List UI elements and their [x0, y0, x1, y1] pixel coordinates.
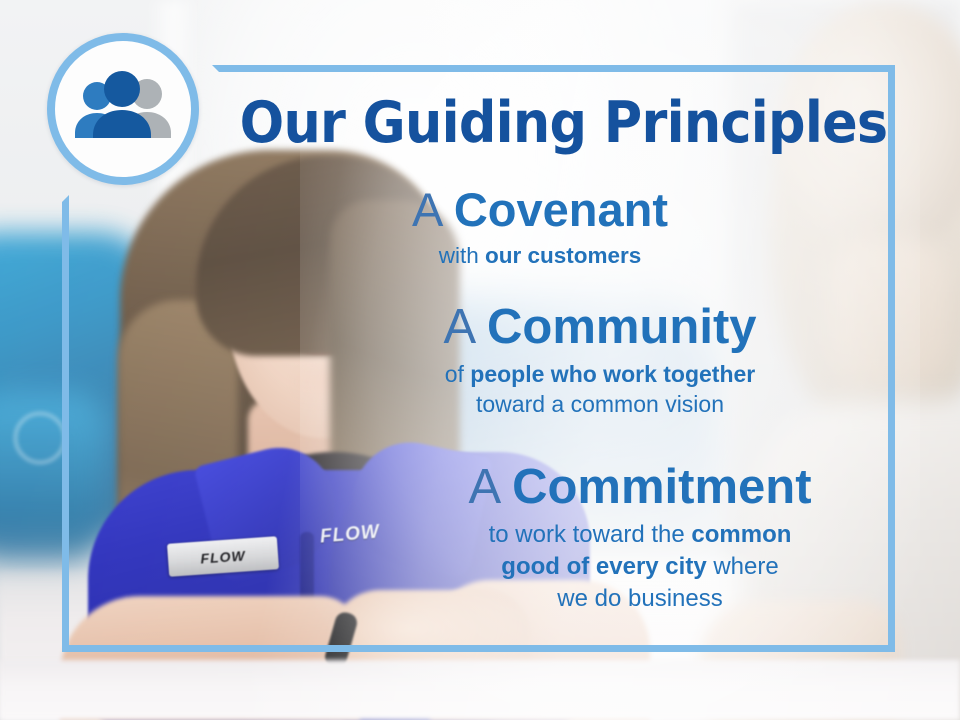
principle-commitment-sub-regular-3: we do business — [557, 585, 722, 612]
principle-commitment-heading: A Commitment — [380, 462, 900, 513]
principle-community-lead: A — [443, 300, 487, 354]
principle-community-subtext: of people who work together toward a com… — [330, 359, 870, 420]
principle-community-sub-regular-2: toward a common vision — [476, 391, 724, 417]
principle-commitment-keyword: Commitment — [512, 460, 811, 514]
guiding-principles-graphic: FLOW FLOW — [0, 0, 960, 720]
principle-commitment-sub-regular-2: where — [707, 553, 779, 580]
principle-covenant: A Covenant with our customers — [300, 186, 780, 270]
principle-commitment-subtext: to work toward the common good of every … — [380, 519, 900, 615]
principle-community-sub-bold-1: people who work together — [470, 361, 755, 387]
principle-community-keyword: Community — [487, 300, 757, 354]
principle-covenant-subtext: with our customers — [300, 241, 780, 270]
principle-community-sub-regular-1: of — [445, 361, 471, 387]
page-title: Our Guiding Principles — [240, 94, 875, 153]
principle-covenant-sub-regular: with — [439, 243, 485, 268]
principle-covenant-sub-bold: our customers — [485, 243, 641, 268]
principle-covenant-keyword: Covenant — [454, 183, 668, 236]
principle-commitment: A Commitment to work toward the common g… — [380, 462, 900, 615]
principle-covenant-heading: A Covenant — [300, 186, 780, 235]
principle-commitment-sub-bold-2: good of every city — [501, 553, 706, 580]
principle-commitment-lead: A — [468, 460, 512, 514]
principle-covenant-lead: A — [412, 183, 454, 236]
principle-commitment-sub-bold-1: common — [691, 521, 791, 548]
text-content: Our Guiding Principles A Covenant with o… — [0, 0, 960, 720]
principle-commitment-sub-regular-1: to work toward the — [489, 521, 692, 548]
principle-community: A Community of people who work together … — [330, 302, 870, 420]
principle-community-heading: A Community — [330, 302, 870, 353]
